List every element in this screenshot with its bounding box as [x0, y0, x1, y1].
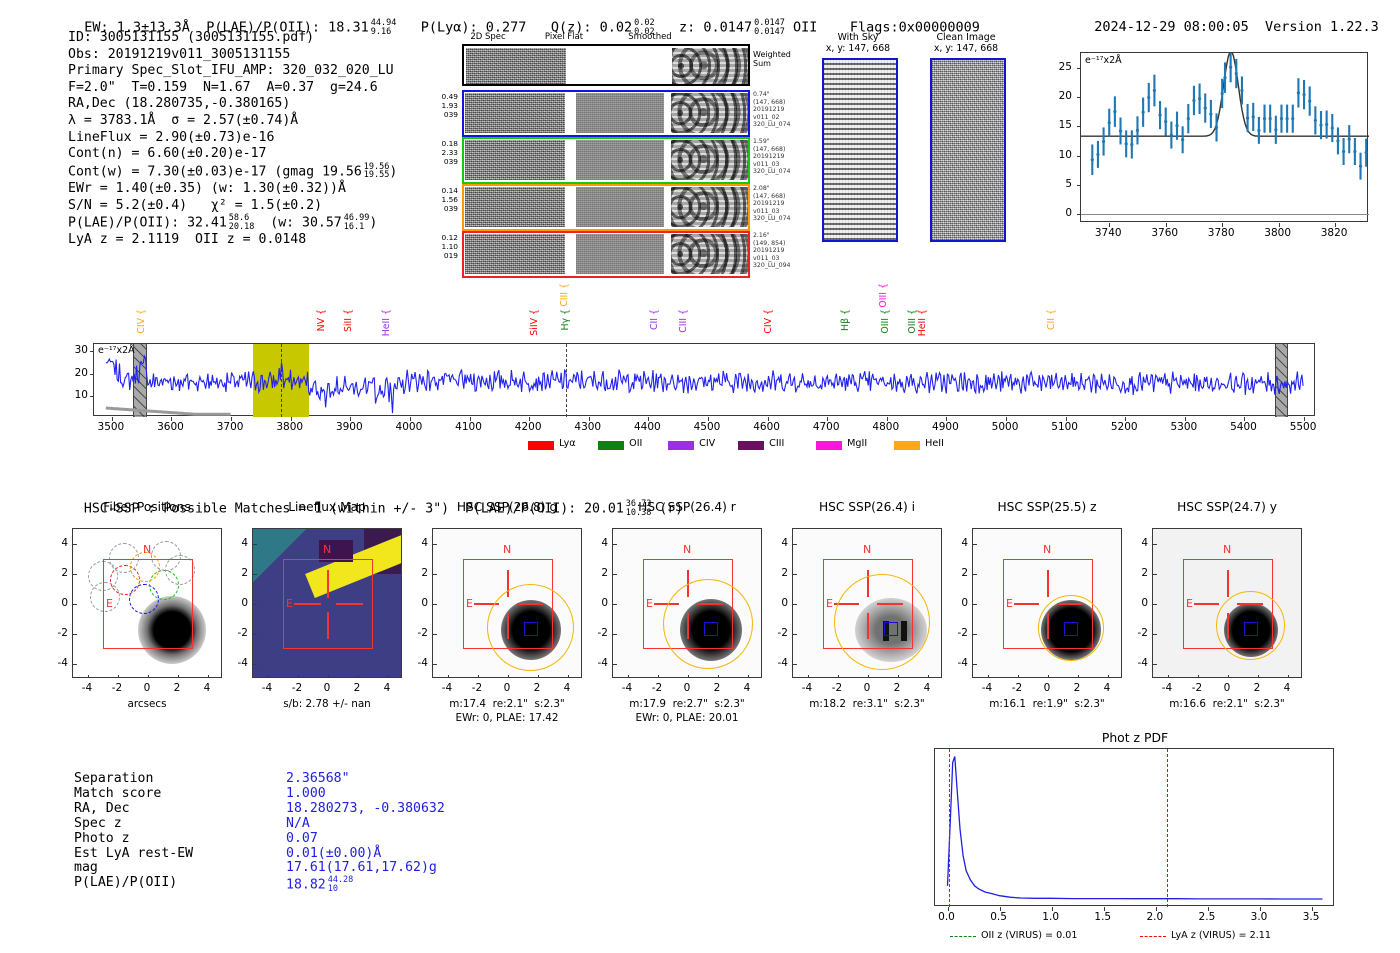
panel-ytickmark-hsc-r [613, 634, 617, 635]
aperture-circle-hsc-i [834, 574, 930, 670]
photz-title: Phot z PDF [920, 730, 1350, 745]
panel-caption-hsc-g: m:17.4 re:2.1" s:2.3" [407, 698, 607, 710]
panel-ytickmark-lineflux-map [253, 664, 257, 665]
spectrum-legend-swatch-CIV [668, 441, 694, 450]
panel-xtickmark-hsc-y [1168, 675, 1169, 678]
panel-xtickmark-lineflux-map [388, 675, 389, 678]
panel-ytick-lineflux-map: -2 [230, 627, 248, 639]
compass-e-hsc-y: E [1186, 597, 1193, 610]
panel-ytickmark-fiber-positions [73, 574, 77, 575]
match-table-value-0: 2.36568" [286, 772, 350, 787]
info-sn-chi2: S/N = 5.2(±0.4) χ² = 1.5(±0.2) [68, 198, 397, 215]
match-table-value-lo: 10 [328, 884, 338, 894]
line-fit-xtick: 3740 [1095, 227, 1122, 239]
weighted-sum-2dspec [466, 48, 566, 84]
panel-ytickmark-hsc-i [793, 544, 797, 545]
spectrum-ytickmark [90, 374, 94, 375]
panel-xtick-hsc-g: -4 [442, 682, 452, 694]
spectrum-line-label-HeII-3: HeII { [381, 309, 392, 336]
panel-xtickmark-hsc-z [1018, 675, 1019, 678]
panel-ytickmark-lineflux-map [253, 604, 257, 605]
panel-ytick-fiber-positions: -2 [50, 627, 68, 639]
info-plae-text: P(LAE)/P(OII): 32.41 [68, 216, 227, 231]
panel-title-lineflux-map: Lineflux Map [242, 500, 412, 514]
spectrum-ytickmark [90, 351, 94, 352]
compass-e-hsc-i: E [826, 597, 833, 610]
panel-xtickmark-hsc-i [838, 675, 839, 678]
full-spectrum-chart: e⁻¹⁷x2Å102030350036003700380039004000410… [68, 275, 1350, 475]
info-fwhm-params: F=2.0" T=0.159 N=1.67 A=0.37 g=24.6 [68, 80, 397, 97]
weighted-sum-row [462, 44, 750, 86]
info-wavelength: λ = 3783.1Å σ = 2.57(±0.74)Å [68, 113, 397, 130]
spec-col-title-0: 2D Spec [448, 32, 528, 42]
fiber-row-2-right-label: 2.08" (147, 668) 20191219 v011_03 320_LU… [753, 185, 790, 223]
panel-ytick-hsc-y: 0 [1130, 597, 1148, 609]
spectrum-xtick: 4100 [455, 421, 482, 433]
panel-ytick-hsc-y: 2 [1130, 567, 1148, 579]
header-timestamp-version: 2024-12-29 08:00:05 Version 1.22.3 [1078, 3, 1379, 35]
panel-xtick-hsc-r: -2 [652, 682, 662, 694]
panel-caption-lineflux-map: s/b: 2.78 +/- nan [227, 698, 427, 710]
spectrum-xtick: 3900 [336, 421, 363, 433]
panel-ytick-hsc-i: -2 [770, 627, 788, 639]
info-radec: RA,Dec (18.280735,-0.380165) [68, 96, 397, 113]
line-fit-ytick: 0 [1042, 207, 1072, 219]
line-fit-xtick: 3800 [1264, 227, 1291, 239]
panel-ytick-hsc-z: -2 [950, 627, 968, 639]
panel-xtick-fiber-positions: -4 [82, 682, 92, 694]
panel-xtick-fiber-positions: 0 [144, 682, 151, 694]
spectrum-axes: e⁻¹⁷x2Å [93, 343, 1315, 416]
info-lineflux: LineFlux = 2.90(±0.73)e-16 [68, 130, 397, 147]
panel-xtickmark-hsc-i [868, 675, 869, 678]
photz-xtick: 1.5 [1094, 911, 1111, 923]
fiber-row-3-right-label: 2.16" (149, 854) 20191219 v011_03 320_LU… [753, 232, 790, 270]
panel-xtick-lineflux-map: 0 [324, 682, 331, 694]
panel-ytickmark-lineflux-map [253, 634, 257, 635]
panel-caption-fiber-positions: arcsecs [47, 698, 247, 710]
spectrum-xtick: 4700 [813, 421, 840, 433]
info-id: ID: 3005131155 (3005131155.pdf) [68, 30, 397, 47]
panel-caption-hsc-z: m:16.1 re:1.9" s:2.3" [947, 698, 1147, 710]
compass-e-lineflux-map: E [286, 597, 293, 610]
spectrum-trace [94, 344, 1316, 417]
compass-e-fiber-positions: E [106, 597, 113, 610]
spec-col-title-1: Pixel Flat [524, 32, 604, 42]
photz-xtick: 3.5 [1303, 911, 1320, 923]
match-marker-hsc-g [524, 622, 538, 636]
panel-ytickmark-lineflux-map [253, 574, 257, 575]
info-plae-lo: 20.18 [229, 222, 255, 232]
spectrum-line-label-CII-15: CII { [1046, 309, 1057, 330]
panel-xtickmark-hsc-i [928, 675, 929, 678]
spectrum-ytick: 20 [66, 367, 88, 379]
panel-xtickmark-hsc-z [988, 675, 989, 678]
photz-marker-0 [949, 749, 950, 907]
panel-caption-hsc-r: m:17.9 re:2.7" s:2.3" [587, 698, 787, 710]
info-obs: Obs: 20191219v011_3005131155 [68, 47, 397, 64]
spectrum-line-label-CIII-6: CIII { [559, 283, 570, 307]
panel-crosshair-h-left-lineflux-map [294, 603, 321, 605]
panel-xtick-hsc-z: 2 [1074, 682, 1081, 694]
panel-ytick-hsc-g: 4 [410, 537, 428, 549]
spectrum-xtick: 4500 [694, 421, 721, 433]
panel-caption-hsc-y: m:16.6 re:2.1" s:2.3" [1127, 698, 1327, 710]
fiber-row-2 [462, 184, 750, 231]
spectrum-line-markers: CIV {NV {SiII {HeII {SiIV {Hγ {CIII {CII… [93, 275, 1315, 343]
panel-crosshair-h-left-hsc-z [1014, 603, 1040, 605]
header-version: Version 1.22.3 [1265, 19, 1379, 35]
panel-axes-hsc-z: NE [972, 528, 1122, 678]
panel-title-fiber-positions: Fiber Positions [62, 500, 232, 514]
spectrum-xtick: 5400 [1230, 421, 1257, 433]
photz-axes [934, 748, 1334, 906]
fiber-row-1-pixelflat [576, 140, 664, 180]
cutout-subtitle-1: x, y: 147, 668 [920, 43, 1012, 54]
panel-title-hsc-z: HSC SSP(25.5) z [962, 500, 1132, 514]
line-fit-ytick: 25 [1042, 61, 1072, 73]
panel-ytick-hsc-r: -2 [590, 627, 608, 639]
spectrum-line-label-OIII-11: OIII { [880, 309, 891, 334]
line-fit-ytick: 5 [1042, 178, 1072, 190]
panel-ytick-hsc-i: 4 [770, 537, 788, 549]
panel-ytickmark-hsc-r [613, 664, 617, 665]
spectrum-xtick: 3800 [276, 421, 303, 433]
panel-title-hsc-i: HSC SSP(26.4) i [782, 500, 952, 514]
info-cont-w-lo: 19.55 [364, 170, 390, 180]
panel-ytick-hsc-y: 4 [1130, 537, 1148, 549]
panel-ytickmark-fiber-positions [73, 664, 77, 665]
spectrum-legend-label-MgII: MgII [847, 438, 867, 449]
cutout-image-clean [930, 58, 1006, 242]
panel-ytickmark-hsc-g [433, 604, 437, 605]
panel-xtick-lineflux-map: 4 [384, 682, 391, 694]
line-fit-xtick: 3780 [1208, 227, 1235, 239]
panel-redbox-fiber-positions [103, 559, 193, 649]
panel-title-hsc-r: HSC SSP(26.4) r [602, 500, 772, 514]
panel-ytickmark-hsc-y [1153, 664, 1157, 665]
match-table-value-1: 1.000 [286, 787, 326, 802]
fiber-row-1-smoothed [671, 140, 748, 180]
spectrum-ytick: 10 [66, 389, 88, 401]
match-marker-hsc-z [1064, 622, 1078, 636]
panel-xtickmark-hsc-g [448, 675, 449, 678]
spectrum-line-label-CII-7: CII { [649, 309, 660, 330]
photz-xtick: 0.5 [990, 911, 1007, 923]
panel-xtick-lineflux-map: -2 [292, 682, 302, 694]
panel-xtick-fiber-positions: 2 [174, 682, 181, 694]
compass-n-fiber-positions: N [143, 543, 151, 556]
panel-xtick-fiber-positions: 4 [204, 682, 211, 694]
match-table-key-2: RA, Dec [74, 802, 130, 817]
panel-xtickmark-hsc-r [748, 675, 749, 678]
spectrum-line-label-NV-1: NV { [316, 309, 327, 331]
panel-ytick-hsc-i: 2 [770, 567, 788, 579]
panel-ytick-hsc-z: 0 [950, 597, 968, 609]
spectrum-legend-swatch-MgII [816, 441, 842, 450]
match-table-value-5: 0.01(±0.00)Å [286, 847, 381, 862]
panel-xtick-hsc-g: 4 [564, 682, 571, 694]
spectrum-line-label-SiII-2: SiII { [343, 309, 354, 332]
match-table-key-0: Separation [74, 772, 153, 787]
info-plae-w-lo: 16.1 [344, 222, 364, 232]
fiber-row-1-right-label: 1.59" (147, 668) 20191219 v011_03 320_LU… [753, 138, 790, 176]
panel-axes-fiber-positions: NE [72, 528, 222, 678]
panel-xtick-lineflux-map: -4 [262, 682, 272, 694]
match-table-value-text: 18.82 [286, 878, 326, 893]
panel-xtick-hsc-i: 4 [924, 682, 931, 694]
panel-xtick-lineflux-map: 2 [354, 682, 361, 694]
panel-ytick-hsc-g: -4 [410, 657, 428, 669]
photz-xtick: 2.0 [1146, 911, 1163, 923]
panel-axes-hsc-i: NE [792, 528, 942, 678]
photz-legend-dash-1 [1140, 936, 1166, 937]
photz-pdf-chart: Phot z PDF0.00.51.01.52.02.53.03.5OII z … [920, 730, 1390, 945]
spectrum-legend-swatch-Lyα [528, 441, 554, 450]
compass-e-hsc-r: E [646, 597, 653, 610]
panel-ytick-fiber-positions: -4 [50, 657, 68, 669]
info-plae-w-tail: ) [369, 216, 377, 231]
cutout-image-with-sky [822, 58, 898, 242]
match-table-key-4: Photo z [74, 832, 130, 847]
panel-ytick-lineflux-map: -4 [230, 657, 248, 669]
panel-xtickmark-hsc-g [508, 675, 509, 678]
spectrum-line-label-CIV-9: CIV { [763, 309, 774, 334]
panel-ytickmark-fiber-positions [73, 604, 77, 605]
cutout-subtitle-0: x, y: 147, 668 [812, 43, 904, 54]
panel-xtick-hsc-y: 4 [1284, 682, 1291, 694]
panel-ytick-hsc-g: -2 [410, 627, 428, 639]
panel-xtickmark-fiber-positions [178, 675, 179, 678]
photz-xtick: 2.5 [1199, 911, 1216, 923]
fiber-row-3 [462, 231, 750, 278]
panel-xtick-hsc-z: -2 [1012, 682, 1022, 694]
spectrum-xtick: 5500 [1290, 421, 1317, 433]
photz-legend-dash-0 [950, 936, 976, 937]
match-marker-hsc-r [704, 622, 718, 636]
fiber-row-0-2dspec [465, 93, 565, 133]
info-cont-w: Cont(w) = 7.30(±0.03)e-17 (gmag 19.5619.… [68, 163, 397, 181]
line-fit-chart: e⁻¹⁷x2Å051015202537403760378038003820 [1042, 52, 1390, 282]
match-marker-hsc-i [884, 622, 898, 636]
panel-xtick-hsc-r: 0 [684, 682, 691, 694]
fiber-row-0 [462, 90, 750, 137]
match-table-value-3: N/A [286, 817, 310, 832]
panel-xtick-hsc-y: -4 [1162, 682, 1172, 694]
panel-xtickmark-hsc-r [688, 675, 689, 678]
panel-xtickmark-fiber-positions [208, 675, 209, 678]
compass-n-hsc-y: N [1223, 543, 1231, 556]
spec-col-title-2: Smoothed [610, 32, 690, 42]
weighted-sum-smoothed [672, 48, 748, 84]
compass-n-hsc-r: N [683, 543, 691, 556]
info-primary-spec: Primary Spec_Slot_IFU_AMP: 320_032_020_L… [68, 63, 397, 80]
panel-crosshair-h-right-lineflux-map [336, 603, 363, 605]
spectrum-xtick: 5300 [1170, 421, 1197, 433]
panel-xtickmark-lineflux-map [358, 675, 359, 678]
panel-ytickmark-hsc-g [433, 574, 437, 575]
header-datetime: 2024-12-29 08:00:05 [1094, 19, 1248, 35]
panel-crosshair-h-left-hsc-y [1194, 603, 1220, 605]
spectrum-line-label-CIV-0: CIV { [136, 309, 147, 334]
panel-crosshair-v-top-hsc-z [1047, 570, 1049, 597]
fiber-row-1 [462, 137, 750, 184]
photz-marker-1 [1167, 749, 1168, 907]
panel-ytickmark-hsc-z [973, 664, 977, 665]
line-fit-axes: e⁻¹⁷x2Å [1080, 52, 1368, 222]
panel-xtickmark-fiber-positions [88, 675, 89, 678]
panel-ytick-hsc-r: 0 [590, 597, 608, 609]
panel-ytick-hsc-y: -4 [1130, 657, 1148, 669]
match-table-key-6: mag [74, 861, 98, 876]
panel-xtick-hsc-g: -2 [472, 682, 482, 694]
cutout-panel-row: Fiber PositionsNE-4-2024-4-2024arcsecsLi… [0, 500, 1400, 730]
compass-n-hsc-g: N [503, 543, 511, 556]
spectrum-legend-swatch-HeII [894, 441, 920, 450]
panel-xtick-hsc-g: 2 [534, 682, 541, 694]
fiber-row-3-2dspec [465, 234, 565, 274]
line-fit-xtick: 3760 [1151, 227, 1178, 239]
panel-axes-hsc-r: NE [612, 528, 762, 678]
fiber-row-3-smoothed [671, 234, 748, 274]
spectrum-xtick: 4200 [515, 421, 542, 433]
panel-ytick-hsc-r: 2 [590, 567, 608, 579]
spectrum-xtick: 4400 [634, 421, 661, 433]
panel-ytickmark-hsc-r [613, 544, 617, 545]
panel-xtick-hsc-r: -4 [622, 682, 632, 694]
panel-ytick-fiber-positions: 0 [50, 597, 68, 609]
info-plae-w-text: (w: 30.57 [270, 216, 341, 231]
spectrum-legend-label-CIII: CIII [769, 438, 784, 449]
panel-axes-hsc-y: NE [1152, 528, 1302, 678]
panel-xtick-hsc-z: 0 [1044, 682, 1051, 694]
panel-xtickmark-lineflux-map [298, 675, 299, 678]
compass-n-hsc-z: N [1043, 543, 1051, 556]
photz-legend-label-1: LyA z (VIRUS) = 2.11 [1171, 930, 1271, 941]
match-table-key-7: P(LAE)/P(OII) [74, 876, 177, 891]
panel-ytickmark-hsc-i [793, 664, 797, 665]
panel-xtickmark-hsc-r [718, 675, 719, 678]
spectrum-xtick: 5200 [1111, 421, 1138, 433]
panel-xtick-hsc-y: -2 [1192, 682, 1202, 694]
photz-legend-label-0: OII z (VIRUS) = 0.01 [981, 930, 1078, 941]
panel-ytick-lineflux-map: 2 [230, 567, 248, 579]
fiber-row-0-right-label: 0.74" (147, 668) 20191219 v011_02 320_LU… [753, 91, 790, 129]
panel-ytickmark-hsc-y [1153, 544, 1157, 545]
spectrum-ytick: 30 [66, 344, 88, 356]
spectrum-xtick: 5000 [992, 421, 1019, 433]
fiber-row-0-smoothed [671, 93, 748, 133]
panel-xtick-hsc-g: 0 [504, 682, 511, 694]
panel-xtick-hsc-i: -4 [802, 682, 812, 694]
panel-ytickmark-hsc-g [433, 634, 437, 635]
match-marker-hsc-y [1244, 622, 1258, 636]
panel-ytickmark-hsc-g [433, 544, 437, 545]
panel-title-hsc-y: HSC SSP(24.7) y [1142, 500, 1312, 514]
panel-xtickmark-fiber-positions [118, 675, 119, 678]
match-table-value-frac: 44.2810 [328, 876, 354, 893]
panel-ytickmark-hsc-y [1153, 604, 1157, 605]
detection-info-block: ID: 3005131155 (3005131155.pdf) Obs: 201… [68, 30, 397, 249]
panel-ytickmark-lineflux-map [253, 544, 257, 545]
cutout-title-1: Clean Image [920, 32, 1012, 43]
cutout-title-0: With Sky [812, 32, 904, 43]
panel-xtickmark-hsc-g [538, 675, 539, 678]
spectrum-legend: LyαOIICIVCIIIMgIIHeII [528, 438, 1228, 454]
spectrum-legend-swatch-CIII [738, 441, 764, 450]
panel-ytick-hsc-g: 2 [410, 567, 428, 579]
spectrum-xtick: 4600 [753, 421, 780, 433]
panel-xtickmark-hsc-i [898, 675, 899, 678]
panel-xtick-hsc-z: 4 [1104, 682, 1111, 694]
panel-xtickmark-hsc-g [478, 675, 479, 678]
panel-xtick-hsc-y: 2 [1254, 682, 1261, 694]
line-fit-ytick: 10 [1042, 149, 1072, 161]
panel-xtick-fiber-positions: -2 [112, 682, 122, 694]
panel-xtick-hsc-y: 0 [1224, 682, 1231, 694]
panel-xtickmark-hsc-z [1108, 675, 1109, 678]
compass-n-lineflux-map: N [323, 543, 331, 556]
panel-ytickmark-hsc-y [1153, 574, 1157, 575]
panel-ytick-hsc-z: 4 [950, 537, 968, 549]
spectrum-line-label-SiIV-4: SiIV { [529, 309, 540, 336]
panel-xtick-hsc-i: -2 [832, 682, 842, 694]
panel-ytick-hsc-z: 2 [950, 567, 968, 579]
panel-ytick-hsc-i: -4 [770, 657, 788, 669]
fiber-row-1-left-label: 0.18 2.33 039 [432, 139, 458, 167]
panel-crosshair-v-bot-lineflux-map [327, 612, 329, 639]
panel-ytickmark-fiber-positions [73, 544, 77, 545]
panel-ytickmark-fiber-positions [73, 634, 77, 635]
fiber-row-2-smoothed [671, 187, 748, 227]
spectrum-xtick: 4300 [574, 421, 601, 433]
panel-xtickmark-hsc-g [568, 675, 569, 678]
fiber-row-3-pixelflat [576, 234, 664, 274]
photz-xtick: 3.0 [1251, 911, 1268, 923]
panel-ytick-fiber-positions: 2 [50, 567, 68, 579]
spectrum-legend-label-HeII: HeII [925, 438, 944, 449]
panel-ytick-lineflux-map: 0 [230, 597, 248, 609]
info-cont-n: Cont(n) = 6.60(±0.20)e-17 [68, 146, 397, 163]
match-table-key-1: Match score [74, 787, 161, 802]
panel-ytick-hsc-g: 0 [410, 597, 428, 609]
spectrum-legend-label-OII: OII [629, 438, 642, 449]
fiber-row-0-pixelflat [576, 93, 664, 133]
line-fit-xtick: 3820 [1321, 227, 1348, 239]
info-cont-w-tail: ) [389, 164, 397, 179]
spectrum-line-label-OIII-12: OIII { [878, 283, 889, 308]
fiber-row-2-left-label: 0.14 1.56 039 [432, 186, 458, 214]
two-d-spectra-panel: 2D SpecPixel FlatSmoothedWeighted Sum0.4… [440, 32, 770, 262]
match-table-value-4: 0.07 [286, 832, 318, 847]
spectrum-xtick: 3700 [217, 421, 244, 433]
info-redshifts: LyA z = 2.1119 OII z = 0.0148 [68, 232, 397, 249]
spectrum-legend-label-CIV: CIV [699, 438, 715, 449]
panel-ytickmark-hsc-y [1153, 634, 1157, 635]
weighted-sum-label: Weighted Sum [753, 50, 791, 68]
photz-legend: OII z (VIRUS) = 0.01LyA z (VIRUS) = 2.11 [950, 930, 1350, 946]
line-fit-ytick: 20 [1042, 90, 1072, 102]
info-cont-w-text: Cont(w) = 7.30(±0.03)e-17 (gmag 19.56 [68, 164, 362, 179]
panel-ytick-hsc-r: 4 [590, 537, 608, 549]
fiber-row-2-2dspec [465, 187, 565, 227]
spectrum-line-label-Hβ-10: Hβ { [840, 309, 851, 331]
info-ewr: EWr = 1.40(±0.35) (w: 1.30(±0.32))Å [68, 181, 397, 198]
panel-xtickmark-lineflux-map [328, 675, 329, 678]
line-fit-curve [1081, 53, 1369, 223]
panel-xtickmark-hsc-y [1258, 675, 1259, 678]
panel-xtick-hsc-r: 4 [744, 682, 751, 694]
